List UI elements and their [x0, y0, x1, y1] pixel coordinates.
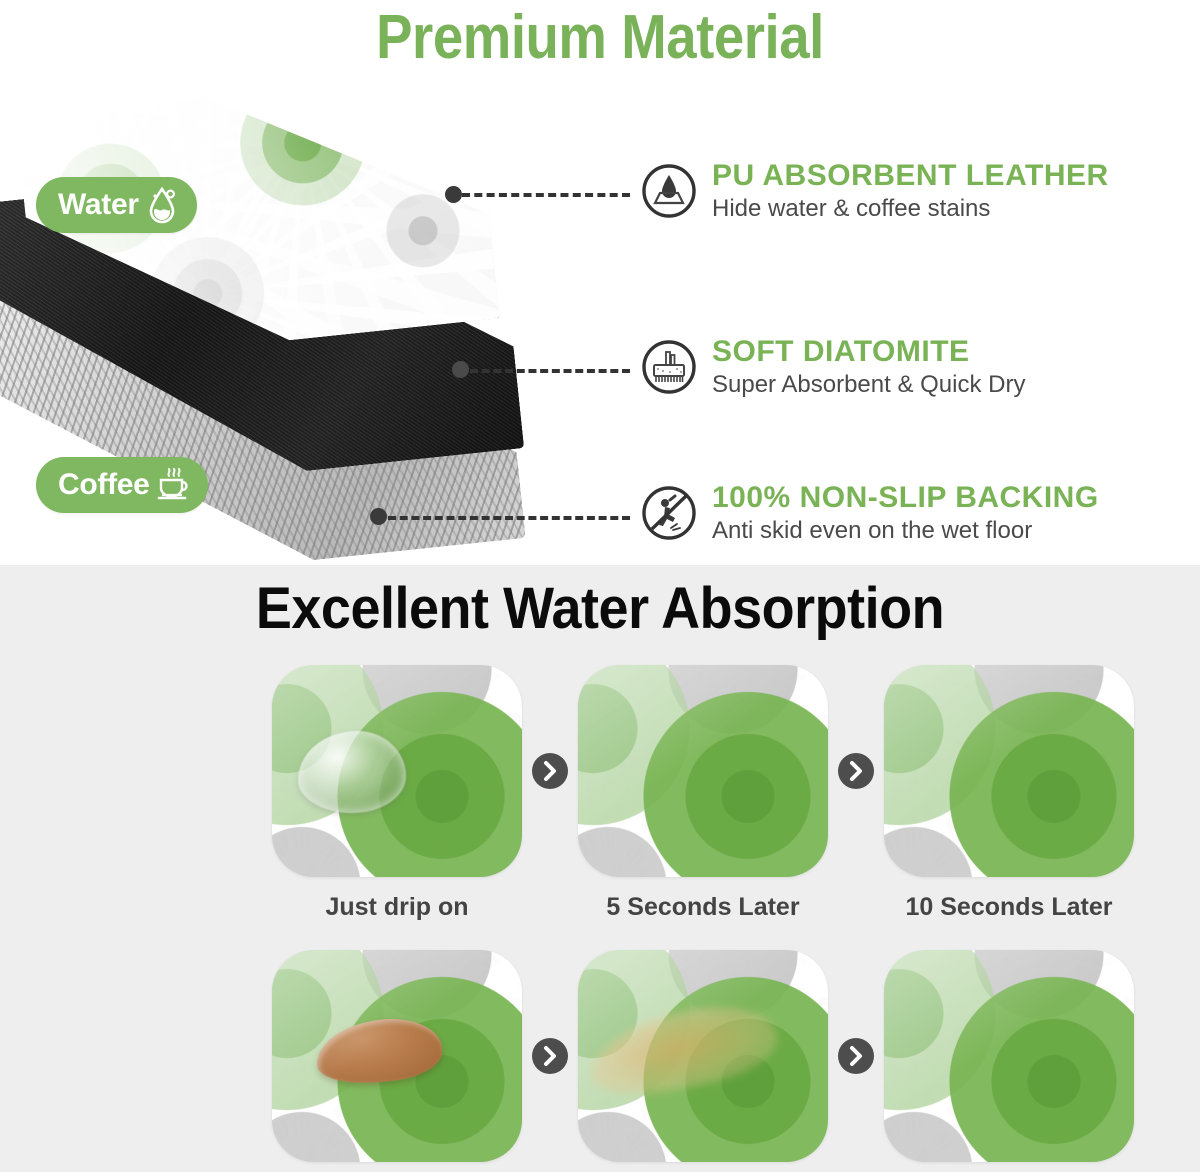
feature-title: PU ABSORBENT LEATHER — [712, 160, 1109, 192]
tile-gloss — [578, 665, 828, 877]
chevron-right-icon — [838, 1038, 874, 1074]
liquid-label-text: Coffee — [58, 468, 150, 502]
step-arrow-2 — [828, 1038, 884, 1074]
feature-subtitle: Hide water & coffee stains — [712, 196, 1109, 222]
leader-line-pu-leather — [462, 193, 630, 197]
water-step-photo-1 — [272, 665, 522, 877]
liquid-label-coffee: Coffee — [36, 457, 208, 513]
feature-subtitle: Super Absorbent & Quick Dry — [712, 372, 1025, 398]
liquid-label-water: Water — [36, 177, 197, 233]
tile-gloss — [884, 950, 1134, 1162]
leader-line-diatomite — [470, 369, 630, 373]
feature-subtitle: Anti skid even on the wet floor — [712, 518, 1099, 544]
coffee-step-photo-3 — [884, 950, 1134, 1162]
feature-text-block: SOFT DIATOMITE Super Absorbent & Quick D… — [712, 336, 1025, 398]
page-title: Premium Material — [72, 2, 1128, 73]
product-infographic: Premium Material — [0, 0, 1200, 1172]
callout-dot-non-slip — [370, 508, 387, 525]
coffee-absorption-step-strip — [272, 950, 1134, 1162]
water-droplet-overlay — [298, 731, 406, 813]
chevron-right-icon — [532, 1038, 568, 1074]
step-caption: 5 Seconds Later — [578, 893, 828, 922]
caption-spacer — [522, 893, 578, 922]
no-slipping-person-icon — [640, 484, 698, 542]
coffee-spill-overlay — [313, 1014, 445, 1089]
feature-text-block: 100% NON-SLIP BACKING Anti skid even on … — [712, 482, 1099, 544]
step-caption: Just drip on — [272, 893, 522, 922]
liquid-label-text: Water — [58, 188, 139, 222]
feature-pu-absorbent-leather: PU ABSORBENT LEATHER Hide water & coffee… — [640, 160, 1109, 222]
step-arrow-1 — [522, 1038, 578, 1074]
tile-gloss — [884, 665, 1134, 877]
feature-non-slip-backing: 100% NON-SLIP BACKING Anti skid even on … — [640, 482, 1099, 544]
callout-dot-pu-leather — [445, 186, 462, 203]
section-title: Excellent Water Absorption — [42, 575, 1158, 642]
water-step-photo-3 — [884, 665, 1134, 877]
leader-line-non-slip — [388, 516, 630, 520]
chevron-right-icon — [532, 753, 568, 789]
water-step-captions: Just drip on 5 Seconds Later 10 Seconds … — [272, 893, 1134, 922]
chevron-right-icon — [838, 753, 874, 789]
feature-title: SOFT DIATOMITE — [712, 336, 1025, 368]
coffee-step-photo-1 — [272, 950, 522, 1162]
coffee-stain-faded-overlay — [582, 993, 784, 1107]
step-arrow-1 — [522, 753, 578, 789]
water-drop-on-mat-icon — [640, 162, 698, 220]
feature-text-block: PU ABSORBENT LEATHER Hide water & coffee… — [712, 160, 1109, 222]
water-step-photo-2 — [578, 665, 828, 877]
step-arrow-2 — [828, 753, 884, 789]
feature-soft-diatomite: SOFT DIATOMITE Super Absorbent & Quick D… — [640, 336, 1025, 398]
feature-title: 100% NON-SLIP BACKING — [712, 482, 1099, 514]
coffee-step-photo-2 — [578, 950, 828, 1162]
scrub-brush-icon — [640, 338, 698, 396]
caption-spacer — [828, 893, 884, 922]
water-absorption-step-strip — [272, 665, 1134, 877]
water-drop-icon — [145, 186, 179, 224]
callout-dot-diatomite — [452, 361, 469, 378]
coffee-cup-icon — [156, 466, 190, 504]
step-caption: 10 Seconds Later — [884, 893, 1134, 922]
